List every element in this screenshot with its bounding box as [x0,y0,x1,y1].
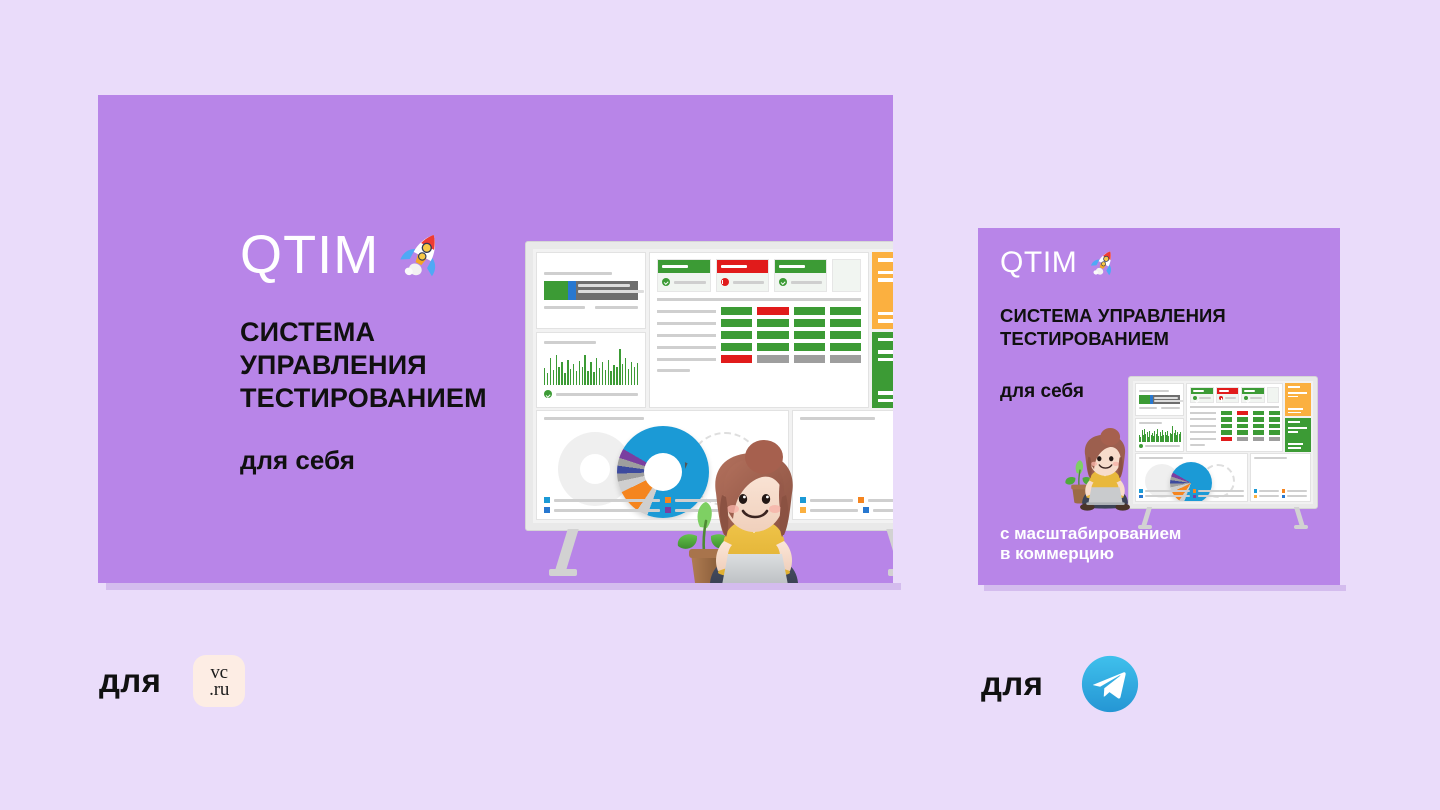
pass-check-icon [662,278,670,286]
status-chip [1269,417,1280,422]
table-row [657,343,861,351]
headline-line: ТЕСТИРОВАНИЕМ [240,382,570,415]
sparkline-bar [593,372,594,385]
qtim-logo-large: QTIM [240,228,449,282]
status-chip [794,343,825,351]
table-row-label [1190,418,1216,420]
subheadline-large: для себя [240,445,355,476]
status-chip [1237,424,1248,429]
qtim-wordmark: QTIM [1000,248,1077,278]
status-chip [1237,411,1248,416]
fail-check-icon [1219,396,1223,400]
results-table [1190,411,1279,442]
table-row [1190,424,1279,429]
sparkline-bar [579,361,580,386]
sparkline-bar [573,364,574,385]
table-row [1190,437,1279,442]
subheadline-small: для себя [1000,381,1084,404]
status-card-placeholder [1267,387,1279,403]
green-panel [1285,418,1311,451]
footer-label: для [981,665,1043,703]
headline-line: СИСТЕМА УПРАВЛЕНИЯ [1000,305,1330,328]
table-row-label [1190,438,1216,440]
status-chip [757,319,788,327]
footer-label: для [99,662,161,700]
status-chip [1269,430,1280,435]
sparkline-bar [590,362,591,386]
status-card [774,259,827,292]
table-row-label [657,334,716,337]
tagline-line: с масштабированием [1000,524,1181,544]
tagline-line: в коммерцию [1000,544,1181,564]
rocket-icon [1089,248,1119,278]
sparkline-bar [576,371,577,385]
fail-check-icon [721,278,729,286]
progress-panel [1135,383,1184,416]
tagline-small: с масштабированием в коммерцию [1000,524,1181,565]
status-chip [830,331,861,339]
status-chip [757,307,788,315]
footer-telegram: для [981,655,1139,713]
results-panel [1186,383,1283,452]
table-row-label [657,358,716,361]
status-chip [1269,437,1280,442]
status-card [1190,387,1214,403]
tagline-large: с масштабированием в коммерцию [240,582,496,583]
status-chip [1253,437,1264,442]
large-card-shadow [106,583,901,590]
girl-with-laptop-illustration [654,415,854,583]
results-table [657,307,861,363]
status-chip [794,319,825,327]
sparkline-bar [616,367,617,385]
results-panel [649,252,869,408]
monitor-screen [1133,381,1313,504]
status-chip [1237,437,1248,442]
status-chip [721,331,752,339]
status-card-row [1190,387,1279,403]
sparkline-bar [605,370,606,386]
headline-small: СИСТЕМА УПРАВЛЕНИЯ ТЕСТИРОВАНИЕМ [1000,305,1330,350]
sparkline-bar [602,362,603,385]
sparkline-bar [613,365,614,385]
footer-vc-ru: для vc .ru [99,655,245,707]
status-chip [1221,417,1232,422]
pass-check-icon [1193,396,1197,400]
rocket-icon [397,229,449,281]
table-row [657,355,861,363]
panel-divider [657,298,861,301]
qtim-wordmark: QTIM [240,228,379,282]
table-row-label [657,322,716,325]
table-row [657,319,861,327]
status-chip [794,307,825,315]
status-chip [1221,411,1232,416]
table-row-label [657,346,716,349]
pass-check-icon [1244,396,1248,400]
table-row-label [1190,431,1216,433]
status-chip [721,307,752,315]
status-chip [721,355,752,363]
sparkline-bar [599,368,600,385]
status-chip [757,343,788,351]
sparkline-bar [619,349,620,385]
table-row-label [1190,425,1216,427]
status-chip [721,343,752,351]
sparkline-bar [584,355,585,385]
status-chip [1237,430,1248,435]
tagline-line: с масштабированием [240,582,496,583]
sparkline-bar [596,358,597,385]
vc-ru-cover-card: QTIM СИСТЕМА УПРАВЛЕНИЯ ТЕСТИРОВАНИ [98,95,893,583]
table-row [657,331,861,339]
status-chip [1221,424,1232,429]
orange-panel [1285,383,1311,416]
dashboard [1133,381,1313,504]
table-row-label [657,310,716,313]
poster-canvas: QTIM СИСТЕМА УПРАВЛЕНИЯ ТЕСТИРОВАНИ [0,0,1440,810]
table-footer-line [657,369,690,372]
table-footer-line [1190,444,1204,446]
pass-check-icon [779,278,787,286]
status-chip [1221,430,1232,435]
progress-bar [544,281,638,300]
qtim-logo-small: QTIM [1000,248,1119,278]
status-chip [794,355,825,363]
sparkline-bar [608,360,609,385]
hair-bun [745,440,783,474]
status-chip [830,307,861,315]
status-chip [1269,411,1280,416]
sparkline-bar [625,358,626,386]
girl-with-laptop-illustration [1053,415,1157,519]
headline-line: ТЕСТИРОВАНИЕМ [1000,328,1330,351]
status-chip [1253,424,1264,429]
area-legend [1254,489,1307,498]
status-card [657,259,710,292]
status-card-placeholder [832,259,861,292]
monitor-foot-right [888,569,893,576]
status-chip [794,331,825,339]
headline-line: УПРАВЛЕНИЯ [240,349,570,382]
green-panel [872,332,893,409]
table-row [1190,417,1279,422]
monitor-leg-left [554,529,578,573]
headline-large: СИСТЕМА УПРАВЛЕНИЯ ТЕСТИРОВАНИЕМ [240,316,570,415]
monitor-foot-right [1294,525,1308,529]
sparkline-bar [582,367,583,386]
status-chip [1237,417,1248,422]
area-chart-panel [1250,453,1311,502]
status-card-row [657,259,861,292]
status-chip [757,331,788,339]
monitor-foot-left [549,569,577,576]
status-chip [830,343,861,351]
sparkline-bar [628,369,629,385]
orange-panel [872,252,893,329]
vcru-logo-line2: .ru [209,681,229,698]
status-chip [1253,411,1264,416]
status-card [1241,387,1265,403]
monitor-leg-right [886,529,893,573]
sparkline-bar [634,367,635,386]
status-chip [830,319,861,327]
status-chip [1221,437,1232,442]
status-chip [830,355,861,363]
table-row [1190,430,1279,435]
table-row-label [1190,412,1216,414]
monitor-leg-right [1294,507,1305,527]
small-card-shadow [984,585,1346,591]
sparkline-bar [610,371,611,385]
status-chip [1253,430,1264,435]
sparkline-bar [570,369,571,385]
status-chip [757,355,788,363]
table-row [1190,411,1279,416]
status-chip [1253,417,1264,422]
laptop [722,554,788,583]
panel-divider [1190,406,1279,408]
headline-line: СИСТЕМА [240,316,570,349]
status-card [716,259,769,292]
status-chip [721,319,752,327]
status-chip [1269,424,1280,429]
table-row [657,307,861,315]
status-card [1216,387,1240,403]
telegram-cover-card: QTIM СИСТЕМА УПРАВЛЕНИЯ ТЕСТИРОВАНИЕМ [978,228,1340,585]
sparkline-bar [631,362,632,386]
telegram-icon[interactable] [1081,655,1139,713]
sparkline-bar [622,364,623,385]
progress-bar [1139,395,1180,404]
vcru-logo-icon[interactable]: vc .ru [193,655,245,707]
sparkline-bar [637,363,638,385]
sparkline-bar [587,371,588,386]
